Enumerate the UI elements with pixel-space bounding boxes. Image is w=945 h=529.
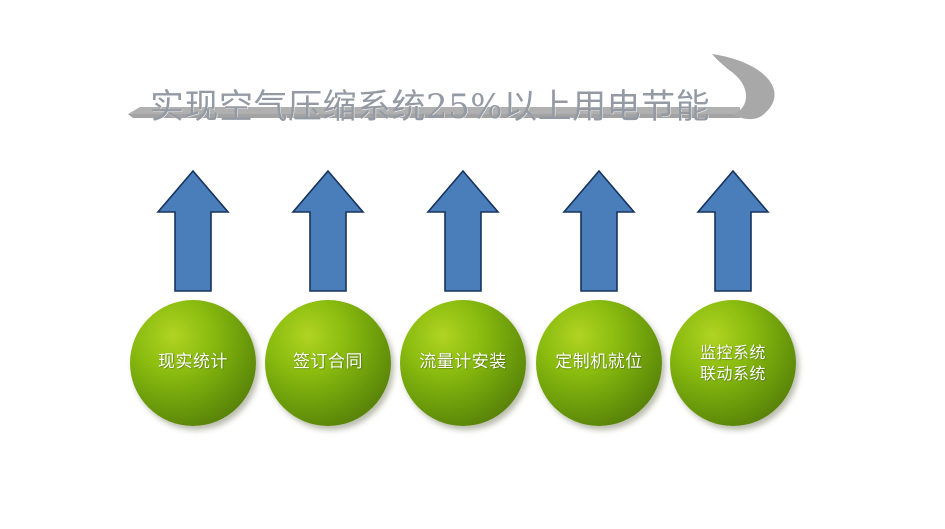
sphere-label: 流量计安装 [400, 300, 526, 426]
sphere-label-line: 联动系统 [700, 363, 766, 384]
sphere-label-line: 签订合同 [293, 352, 363, 374]
process-step[interactable]: 流量计安装 [395, 168, 531, 430]
process-node-sphere[interactable]: 定制机就位 [536, 300, 662, 426]
process-step[interactable]: 签订合同 [260, 168, 396, 430]
process-node-sphere[interactable]: 现实统计 [130, 300, 256, 426]
process-node-sphere[interactable]: 签订合同 [265, 300, 391, 426]
sphere-label: 定制机就位 [536, 300, 662, 426]
sphere-label: 签订合同 [265, 300, 391, 426]
process-node-sphere[interactable]: 流量计安装 [400, 300, 526, 426]
up-arrow-icon [695, 168, 771, 294]
sphere-label: 现实统计 [130, 300, 256, 426]
up-arrow-icon [561, 168, 637, 294]
slide-canvas: 实现空气压缩系统25%以上用电节能 现实统计 [0, 0, 945, 529]
up-arrow-icon [290, 168, 366, 294]
sphere-label-line: 定制机就位 [555, 352, 643, 374]
process-step[interactable]: 定制机就位 [531, 168, 667, 430]
process-step[interactable]: 现实统计 [125, 168, 261, 430]
sphere-label: 监控系统 联动系统 [670, 300, 796, 426]
process-step[interactable]: 监控系统 联动系统 [665, 168, 801, 430]
up-arrow-icon [155, 168, 231, 294]
sphere-label-line: 现实统计 [158, 352, 228, 374]
sphere-label-line: 流量计安装 [419, 352, 507, 374]
process-node-sphere[interactable]: 监控系统 联动系统 [670, 300, 796, 426]
up-arrow-icon [425, 168, 501, 294]
process-diagram: 现实统计 签订合同 [0, 0, 945, 529]
sphere-label-line: 监控系统 [700, 342, 766, 363]
